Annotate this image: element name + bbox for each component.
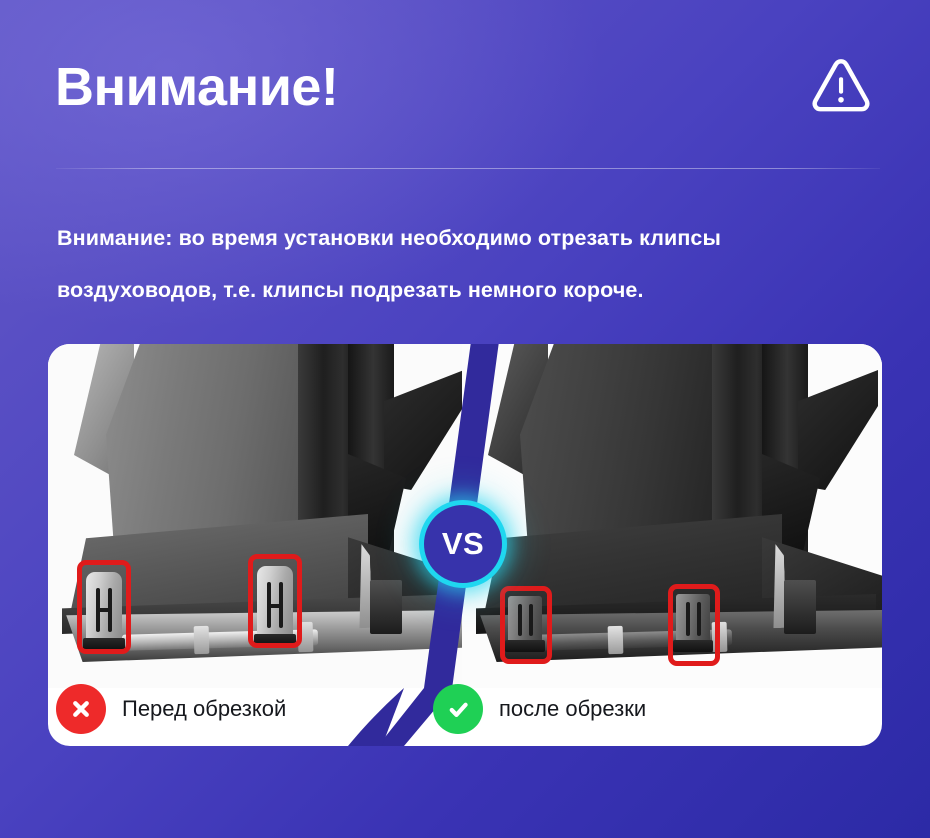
paragraph-line-2: воздуховодов, т.е. клипсы подрезать немн… <box>57 264 887 316</box>
highlight-box-right-2 <box>668 584 720 666</box>
highlight-box-right-1 <box>500 586 552 664</box>
warning-paragraph: Внимание: во время установки необходимо … <box>57 212 887 316</box>
duct-upper-body <box>520 344 720 548</box>
page-title: Внимание! <box>55 60 338 114</box>
duct-post-base <box>784 580 816 634</box>
vs-label: VS <box>442 526 484 562</box>
highlight-box-left-2 <box>248 554 302 648</box>
vs-badge: VS <box>419 500 507 588</box>
duct-tab-a <box>194 626 210 654</box>
before-label: Перед обрезкой <box>122 696 286 722</box>
before-photo-pane <box>48 344 468 688</box>
after-label: после обрезки <box>499 696 646 722</box>
after-label-group: после обрезки <box>433 684 646 734</box>
duct-post-base <box>370 580 402 634</box>
cross-icon <box>56 684 106 734</box>
after-photo-pane <box>462 344 882 688</box>
highlight-box-left-1 <box>77 560 131 654</box>
after-photo <box>462 344 882 688</box>
comparison-labels: Перед обрезкой после обрезки <box>48 688 882 746</box>
before-photo <box>48 344 468 688</box>
check-icon <box>433 684 483 734</box>
before-label-group: Перед обрезкой <box>56 684 286 734</box>
header-divider <box>56 168 880 169</box>
header: Внимание! <box>55 52 882 142</box>
warning-triangle-icon <box>810 56 872 114</box>
duct-tab-a <box>608 626 624 654</box>
duct-upper-body <box>106 344 306 548</box>
paragraph-line-1: Внимание: во время установки необходимо … <box>57 212 887 264</box>
